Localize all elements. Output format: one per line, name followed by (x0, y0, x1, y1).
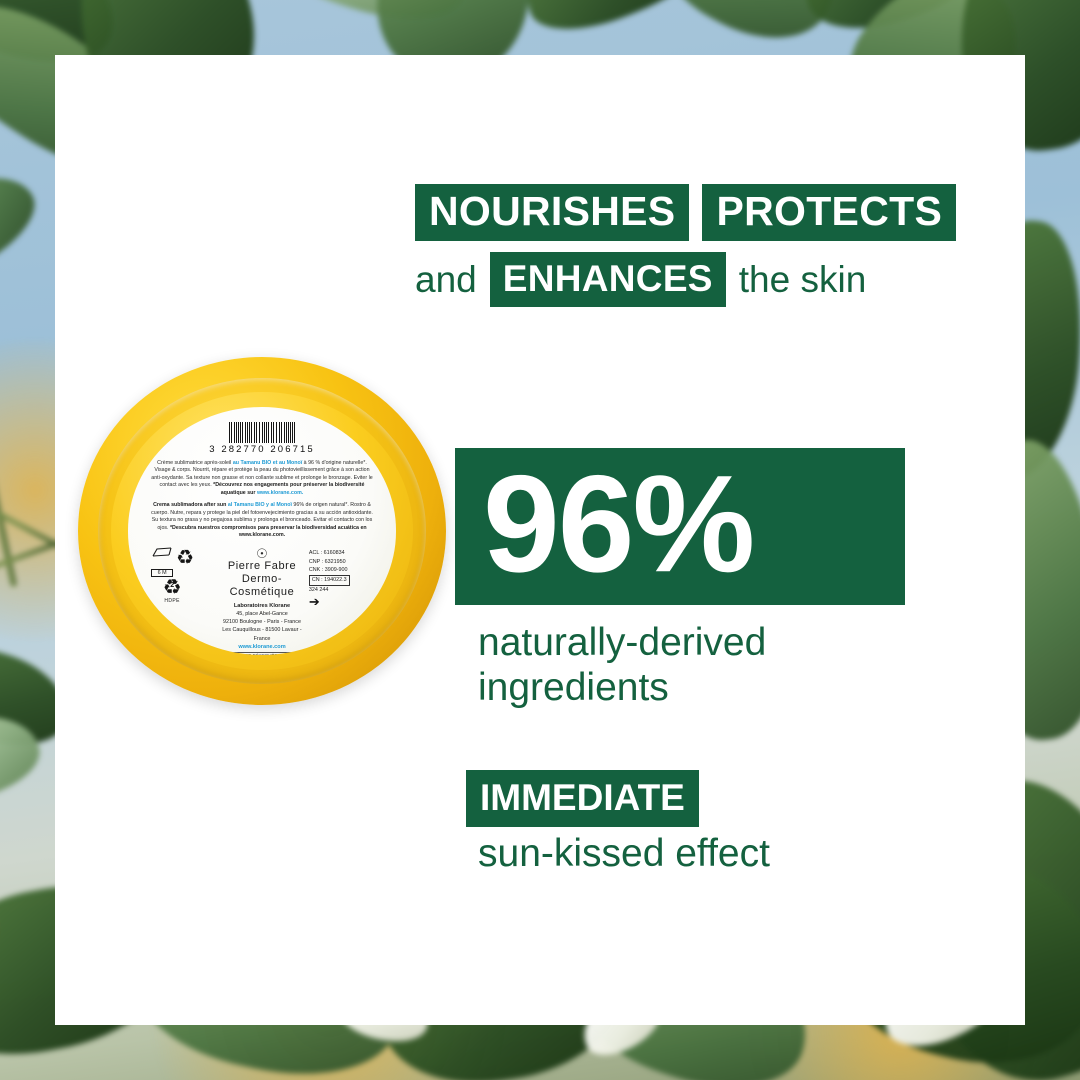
headline-tag-enhances: ENHANCES (490, 252, 726, 307)
claim-description-line-1: naturally-derived (478, 620, 908, 665)
headline-row-2: and ENHANCES the skin (415, 252, 960, 307)
claim-green-bar: 96% (455, 448, 905, 605)
headline-row-1: NOURISHES PROTECTS (415, 184, 960, 241)
code-cn: CN : 194022.3 (309, 575, 350, 586)
ad-creative: NOURISHES PROTECTS and ENHANCES the skin… (0, 0, 1080, 1080)
recycling-code: 2 (155, 582, 189, 589)
recycling-icon: ♻ 2 HDPE (155, 577, 189, 604)
code-cnk: CNK : 3909-900 (309, 566, 375, 575)
distribution-notice: VENTE RÉSERVÉE AUX DISTRIBUTEURS AGRÉÉS (215, 652, 309, 655)
open-arrow-icon: ➔ (309, 595, 375, 608)
address-line-3: Les Cauquillous - 81500 Lavaur - France (215, 626, 309, 642)
barcode-bars (149, 422, 375, 443)
address-line-2: 92100 Boulogne - Paris - France (215, 618, 309, 626)
product-jar-image: 3 282770 206715 Crème sublimatrice après… (78, 357, 446, 705)
label-website: www.klorane.com (215, 644, 309, 650)
headline-prefix-and: and (415, 261, 477, 298)
label-footer: 6 M ♻ ♻ 2 HDPE ☉ Pierre Fabre (149, 547, 375, 655)
code-cnp: CNP : 6321950 (309, 558, 375, 567)
green-dot-icon: ♻ (176, 548, 194, 568)
recycling-triangle: ♻ 2 (155, 577, 189, 598)
pharmacy-codes: ACL : 6160834 CNP : 6321950 CNK : 3909-9… (309, 547, 375, 655)
headline-block: NOURISHES PROTECTS and ENHANCES the skin (415, 184, 960, 307)
label-description-es: Crema sublimadora after sun al Tamanu BI… (149, 502, 375, 540)
label-symbols: 6 M ♻ ♻ 2 HDPE (149, 547, 215, 655)
code-acl: ACL : 6160834 (309, 549, 375, 558)
period-after-opening-icon: 6 M (151, 547, 173, 577)
headline-tag-nourishes: NOURISHES (415, 184, 689, 241)
claim-description: naturally-derived ingredients (478, 620, 908, 710)
manufacturer-block: ☉ Pierre Fabre Dermo-Cosmétique Laborato… (215, 547, 309, 655)
label-description-fr: Crème sublimatrice après-soleil au Taman… (149, 460, 375, 498)
headline-tag-protects: PROTECTS (702, 184, 956, 241)
claim-value: 96% (483, 455, 753, 593)
barcode-number: 3 282770 206715 (149, 444, 375, 455)
lab-name: Laboratoires Klorane (215, 602, 309, 610)
manufacturer-name: Pierre Fabre (215, 560, 309, 573)
manufacturer-subtitle: Dermo-Cosmétique (215, 573, 309, 599)
headline-suffix-the-skin: the skin (739, 261, 867, 298)
immediate-tag: IMMEDIATE (466, 770, 699, 827)
pierre-fabre-logo-icon: ☉ (215, 547, 309, 560)
address-line-1: 45, place Abel-Gance (215, 610, 309, 618)
jar-back-label: 3 282770 206715 Crème sublimatrice après… (128, 407, 397, 654)
immediate-subtitle: sun-kissed effect (478, 833, 770, 876)
claim-description-line-2: ingredients (478, 665, 908, 710)
open-jar-icon (151, 547, 173, 558)
